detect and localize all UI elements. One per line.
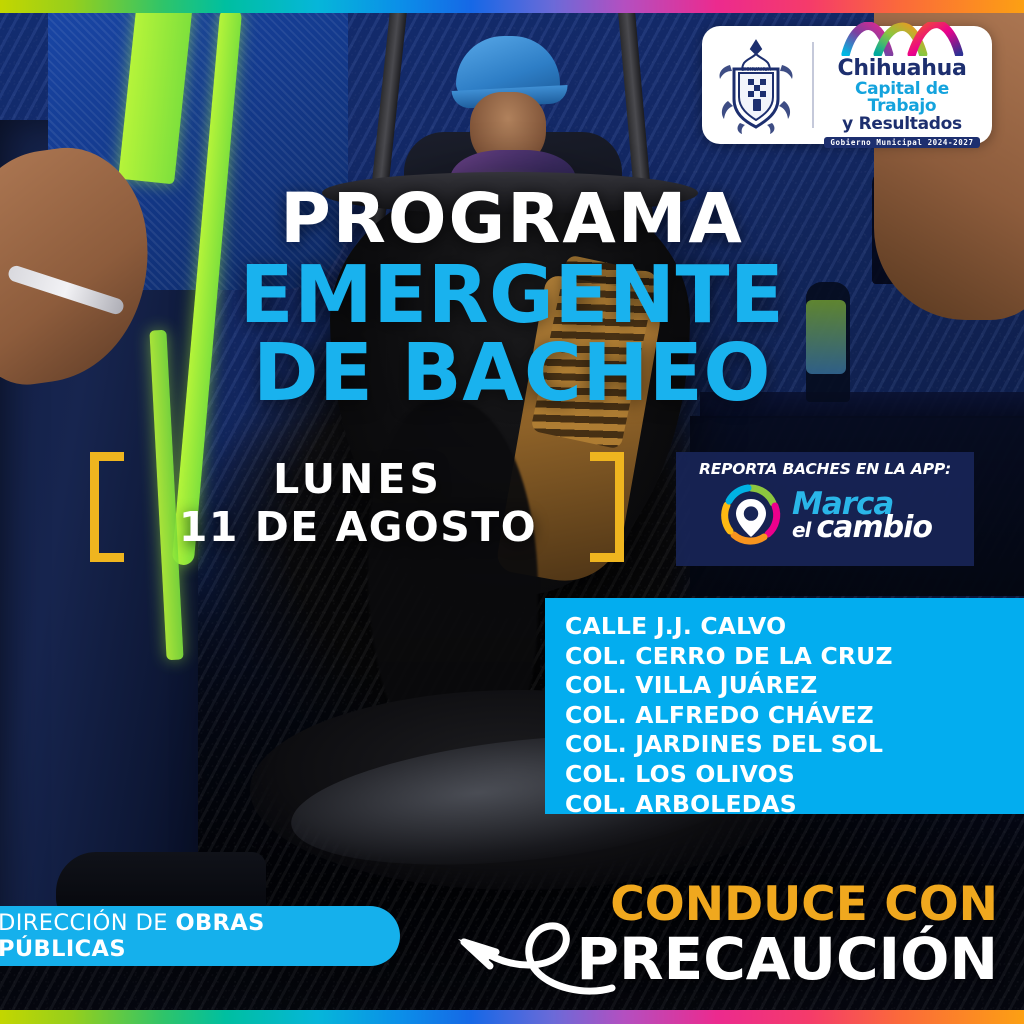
app-promo-panel: REPORTA BACHES EN LA APP: Marca (676, 452, 974, 566)
top-gradient-bar (0, 0, 1024, 13)
date-text: LUNES 11 DE AGOSTO (138, 458, 578, 550)
logo-government-period: Gobierno Municipal 2024-2027 (824, 137, 979, 149)
app-name-cambio: cambio (816, 510, 932, 545)
chihuahua-mountains-icon (824, 22, 980, 56)
list-item: COL. VILLA JUÁREZ (565, 671, 1024, 701)
list-item: COL. CERRO DE LA CRUZ (565, 642, 1024, 672)
date-block: LUNES 11 DE AGOSTO (78, 452, 638, 570)
headline-line-3: DE BACHEO (0, 336, 1024, 412)
government-logo-card: CHIHUAHUA (702, 26, 992, 144)
logo-tagline-line2: y Resultados (824, 116, 980, 133)
department-badge: DIRECCIÓN DE OBRAS PÚBLICAS (0, 906, 400, 966)
bottom-gradient-bar (0, 1010, 1024, 1024)
chihuahua-coat-of-arms-icon: CHIHUAHUA (710, 35, 802, 135)
logo-tagline-line1: Capital de Trabajo (824, 81, 980, 115)
page-title: PROGRAMA EMERGENTE DE BACHEO (0, 186, 1024, 412)
bracket-left-icon (90, 452, 124, 562)
app-logo-row: Marca el cambio (676, 483, 974, 549)
app-promo-title: REPORTA BACHES EN LA APP: (676, 460, 974, 478)
logo-divider (812, 42, 814, 128)
department-prefix: DIRECCIÓN DE (0, 910, 175, 936)
logo-city-name: Chihuahua (824, 58, 980, 80)
chihuahua-wordmark: Chihuahua Capital de Trabajo y Resultado… (824, 22, 982, 149)
svg-text:CHIHUAHUA: CHIHUAHUA (741, 67, 772, 73)
department-label: DIRECCIÓN DE OBRAS PÚBLICAS (0, 910, 400, 962)
headline-line-1: PROGRAMA (0, 186, 1024, 252)
headline-line-2: EMERGENTE (0, 258, 1024, 334)
date-weekday: LUNES (138, 458, 578, 501)
date-day-month: 11 DE AGOSTO (138, 505, 578, 550)
app-name-line2: el cambio (792, 515, 932, 541)
bracket-right-icon (590, 452, 624, 562)
app-name-el: el (792, 518, 816, 542)
drive-safely-warning: CONDUCE CON PRECAUCIÓN (576, 881, 998, 988)
list-item: COL. JARDINES DEL SOL (565, 730, 1024, 760)
poster-canvas: CHIHUAHUA (0, 0, 1024, 1024)
list-item: COL. ALFREDO CHÁVEZ (565, 701, 1024, 731)
street-list-panel: CALLE J.J. CALVO COL. CERRO DE LA CRUZ C… (545, 598, 1024, 814)
list-item: CALLE J.J. CALVO (565, 612, 1024, 642)
list-item: COL. LOS OLIVOS (565, 760, 1024, 790)
location-pin-icon (718, 483, 784, 549)
list-item: COL. ARBOLEDAS (565, 790, 1024, 820)
warning-line-2: PRECAUCIÓN (576, 930, 998, 988)
warning-line-1: CONDUCE CON (576, 881, 998, 928)
app-name: Marca el cambio (792, 491, 932, 541)
